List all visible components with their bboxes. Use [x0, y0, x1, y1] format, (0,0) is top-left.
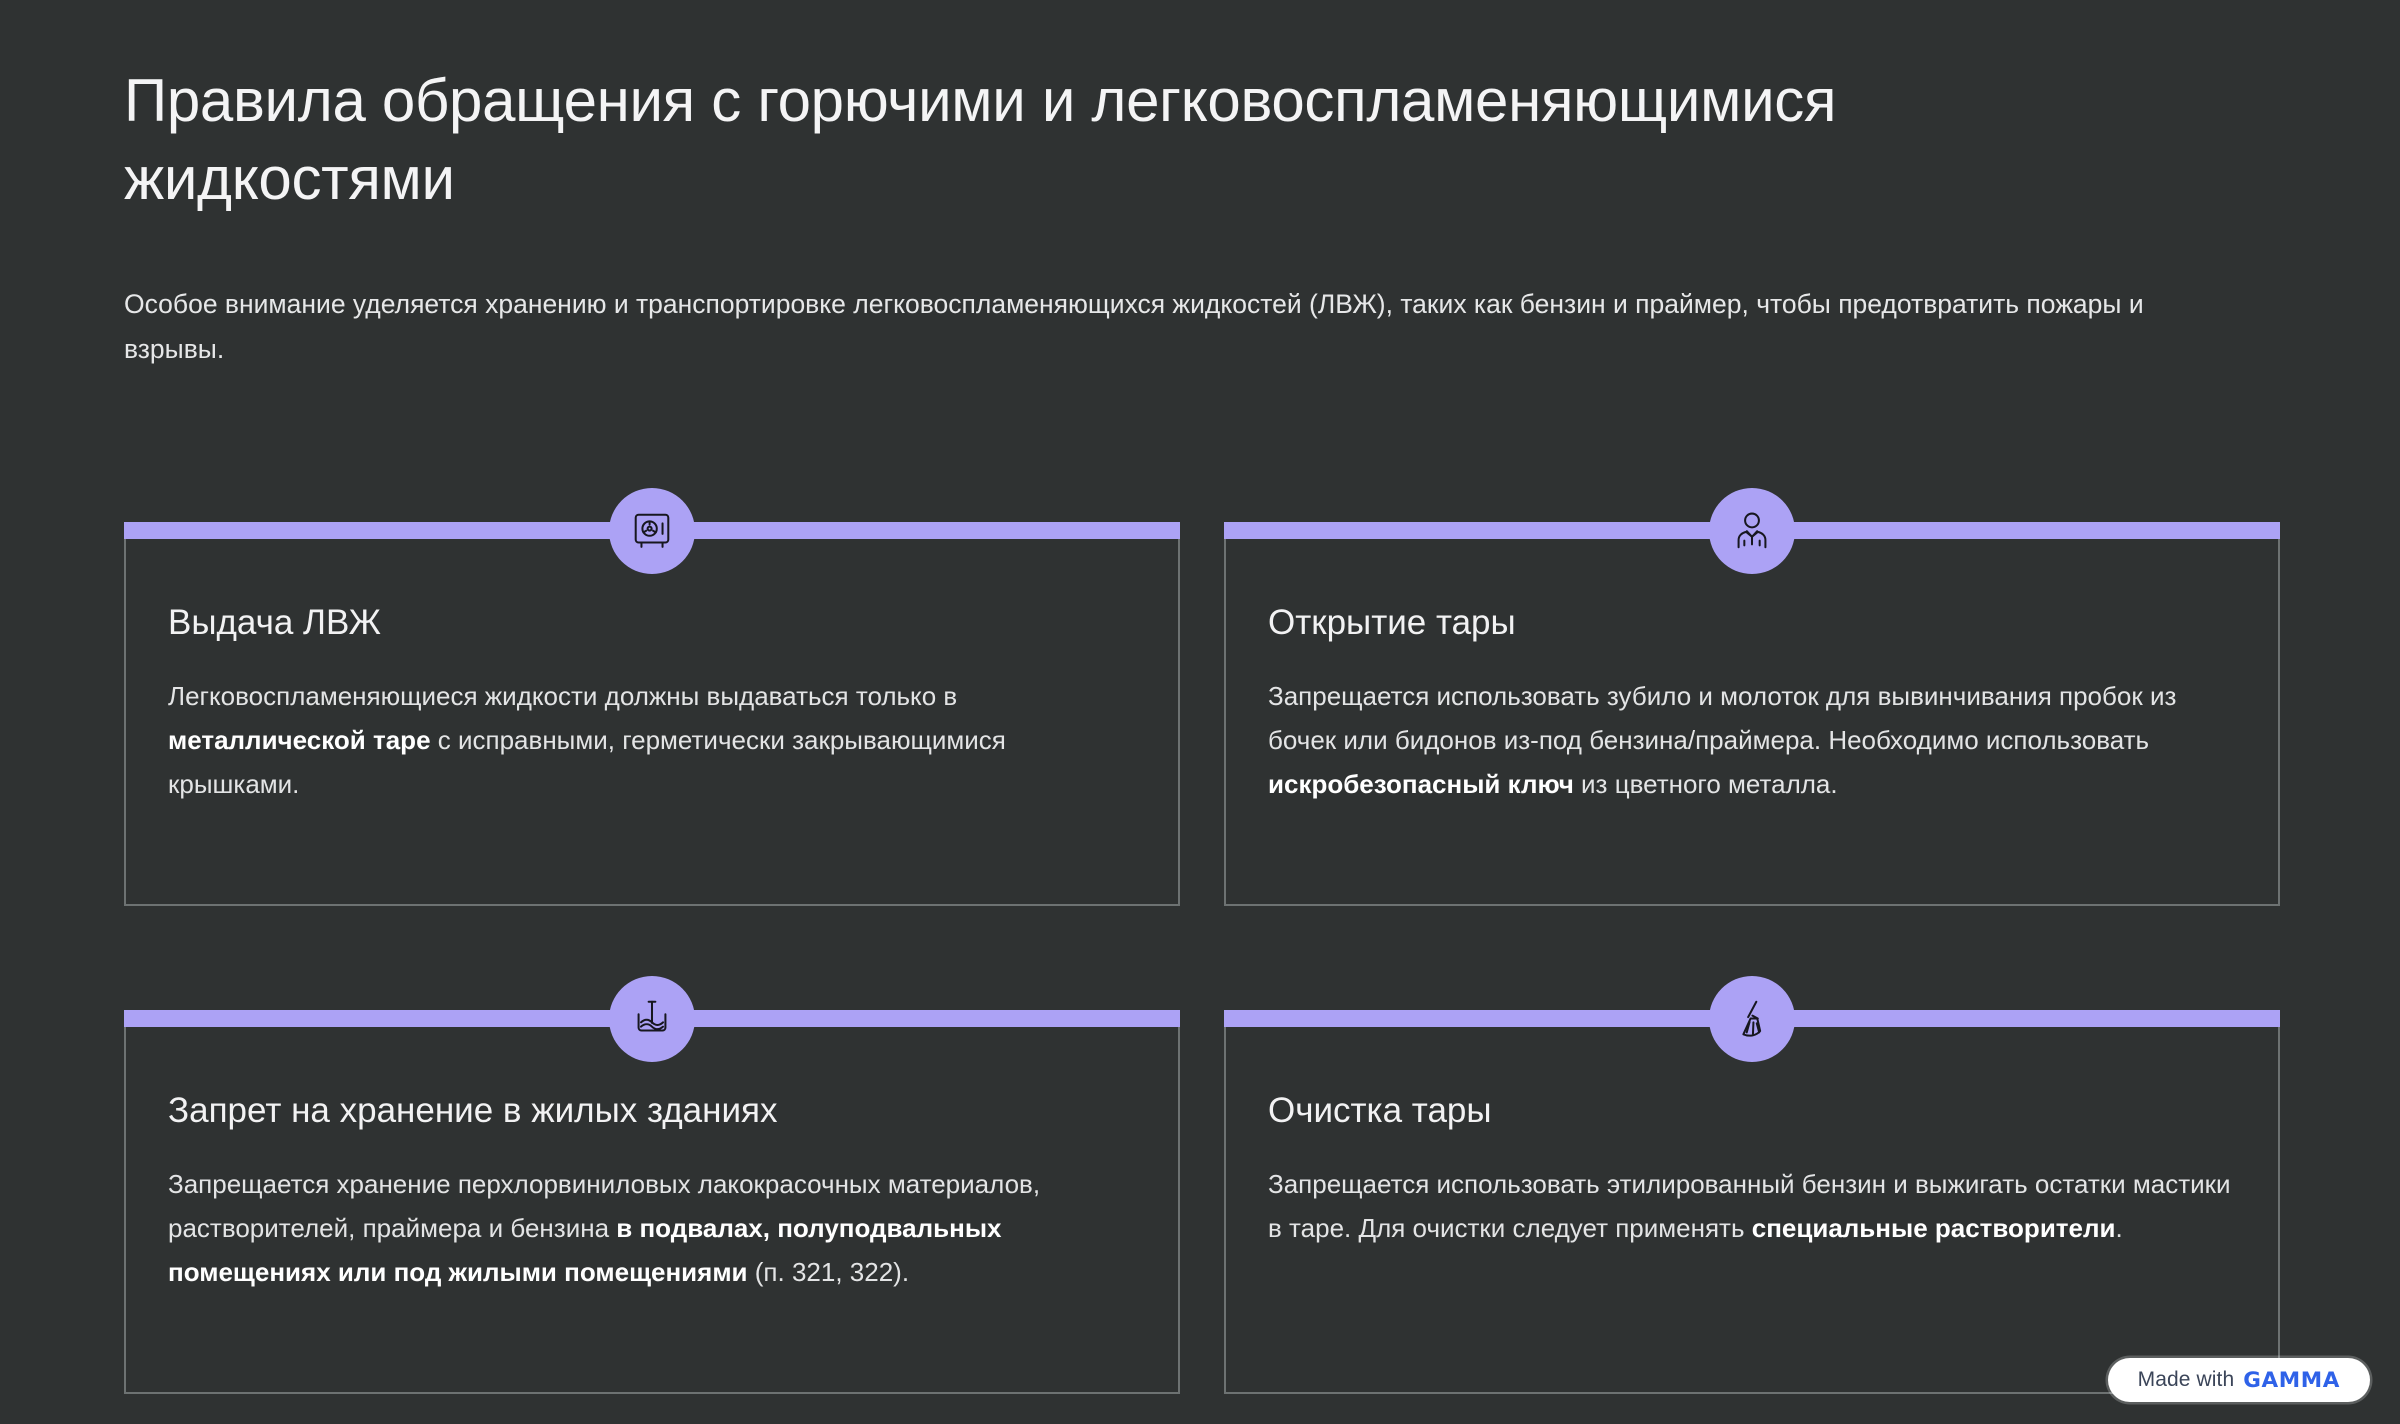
made-with-gamma-badge[interactable]: Made with GAMMA	[2108, 1358, 2370, 1402]
card-title: Запрет на хранение в жилых зданиях	[168, 1088, 1136, 1134]
card-wrapper-1: Выдача ЛВЖ Легковоспламеняющиеся жидкост…	[124, 478, 1180, 906]
info-card-4[interactable]: Очистка тары Запрещается использовать эт…	[1224, 1010, 2280, 1394]
card-title: Открытие тары	[1268, 600, 2236, 646]
slide: Правила обращения с горючими и легковосп…	[0, 0, 2400, 1424]
card-wrapper-2: Открытие тары Запрещается использовать з…	[1224, 478, 2280, 906]
card-body: Запрещается использовать этилированный б…	[1268, 1162, 2236, 1250]
worker-person-icon	[1709, 488, 1795, 574]
info-card-3[interactable]: Запрет на хранение в жилых зданиях Запре…	[124, 1010, 1180, 1394]
mixing-tank-icon	[609, 976, 695, 1062]
card-wrapper-4: Очистка тары Запрещается использовать эт…	[1224, 966, 2280, 1394]
card-grid: Выдача ЛВЖ Легковоспламеняющиеся жидкост…	[124, 478, 2280, 1394]
card-title: Выдача ЛВЖ	[168, 600, 1136, 646]
card-body: Запрещается хранение перхлорвиниловых ла…	[168, 1162, 1136, 1295]
badge-made-with-label: Made with	[2138, 1368, 2235, 1392]
page-title: Правила обращения с горючими и легковосп…	[124, 62, 2154, 218]
slide-header: Правила обращения с горючими и легковосп…	[124, 62, 2154, 371]
safe-vault-icon	[609, 488, 695, 574]
slide-subtitle: Особое внимание уделяется хранению и тра…	[124, 282, 2154, 371]
broom-icon	[1709, 976, 1795, 1062]
card-title: Очистка тары	[1268, 1088, 2236, 1134]
card-wrapper-3: Запрет на хранение в жилых зданиях Запре…	[124, 966, 1180, 1394]
info-card-2[interactable]: Открытие тары Запрещается использовать з…	[1224, 522, 2280, 906]
card-body: Запрещается использовать зубило и молото…	[1268, 674, 2236, 807]
info-card-1[interactable]: Выдача ЛВЖ Легковоспламеняющиеся жидкост…	[124, 522, 1180, 906]
gamma-logo-text: GAMMA	[2243, 1368, 2340, 1393]
card-body: Легковоспламеняющиеся жидкости должны вы…	[168, 674, 1136, 807]
